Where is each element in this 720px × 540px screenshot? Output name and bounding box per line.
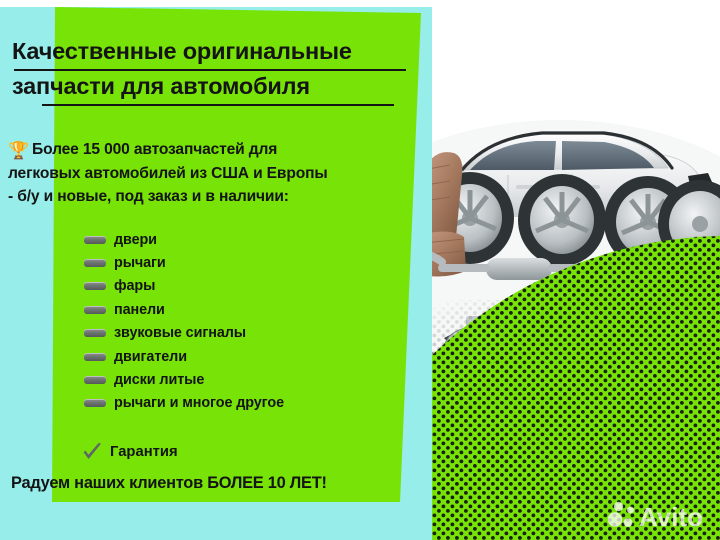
- list-item: рычаги и многое другое: [84, 392, 424, 415]
- avito-watermark: Avito: [606, 498, 710, 532]
- subheading-line-2: легковых автомобилей из США и Европы: [8, 165, 328, 182]
- bullet-bar-icon: [84, 259, 106, 267]
- bullet-bar-icon: [84, 236, 106, 244]
- subheading-line-3: - б/у и новые, под заказ и в наличии:: [8, 188, 289, 205]
- guarantee-label: Гарантия: [110, 444, 178, 460]
- list-item-label: фары: [114, 278, 155, 294]
- advertisement-banner: Качественные оригинальные запчасти для а…: [0, 0, 720, 540]
- list-item-label: рычаги: [114, 255, 166, 271]
- list-item: диски литые: [84, 368, 424, 391]
- bullet-bar-icon: [84, 306, 106, 314]
- list-item-label: диски литые: [114, 372, 204, 388]
- parts-list: двери рычаги фары панели звуковые сигнал…: [84, 228, 424, 415]
- guarantee-row: Гарантия: [80, 440, 178, 464]
- subheading: 🏆Более 15 000 автозапчастей для легковых…: [8, 139, 420, 208]
- list-item-label: двигатели: [114, 349, 187, 365]
- list-item: рычаги: [84, 251, 424, 274]
- avito-wordmark: Avito: [639, 502, 703, 532]
- check-mark-icon: [80, 440, 104, 464]
- list-item-label: панели: [114, 302, 165, 318]
- list-item-label: звуковые сигналы: [114, 325, 246, 341]
- bullet-bar-icon: [84, 282, 106, 290]
- list-item-label: рычаги и многое другое: [114, 395, 284, 411]
- list-item: фары: [84, 275, 424, 298]
- list-item: двигатели: [84, 345, 424, 368]
- text-content: Качественные оригинальные запчасти для а…: [0, 0, 440, 540]
- page-title: Качественные оригинальные запчасти для а…: [12, 36, 412, 106]
- bullet-bar-icon: [84, 376, 106, 384]
- tagline: Радуем наших клиентов БОЛЕЕ 10 ЛЕТ!: [11, 474, 431, 493]
- list-item-label: двери: [114, 232, 157, 248]
- list-item: двери: [84, 228, 424, 251]
- headline-line-2: запчасти для автомобиля: [12, 71, 412, 106]
- bullet-bar-icon: [84, 353, 106, 361]
- headline-line-1: Качественные оригинальные: [12, 36, 412, 71]
- bullet-bar-icon: [84, 399, 106, 407]
- trophy-icon: 🏆: [8, 141, 29, 160]
- list-item: звуковые сигналы: [84, 322, 424, 345]
- bullet-bar-icon: [84, 329, 106, 337]
- subheading-line-1: Более 15 000 автозапчастей для: [32, 141, 277, 158]
- list-item: панели: [84, 298, 424, 321]
